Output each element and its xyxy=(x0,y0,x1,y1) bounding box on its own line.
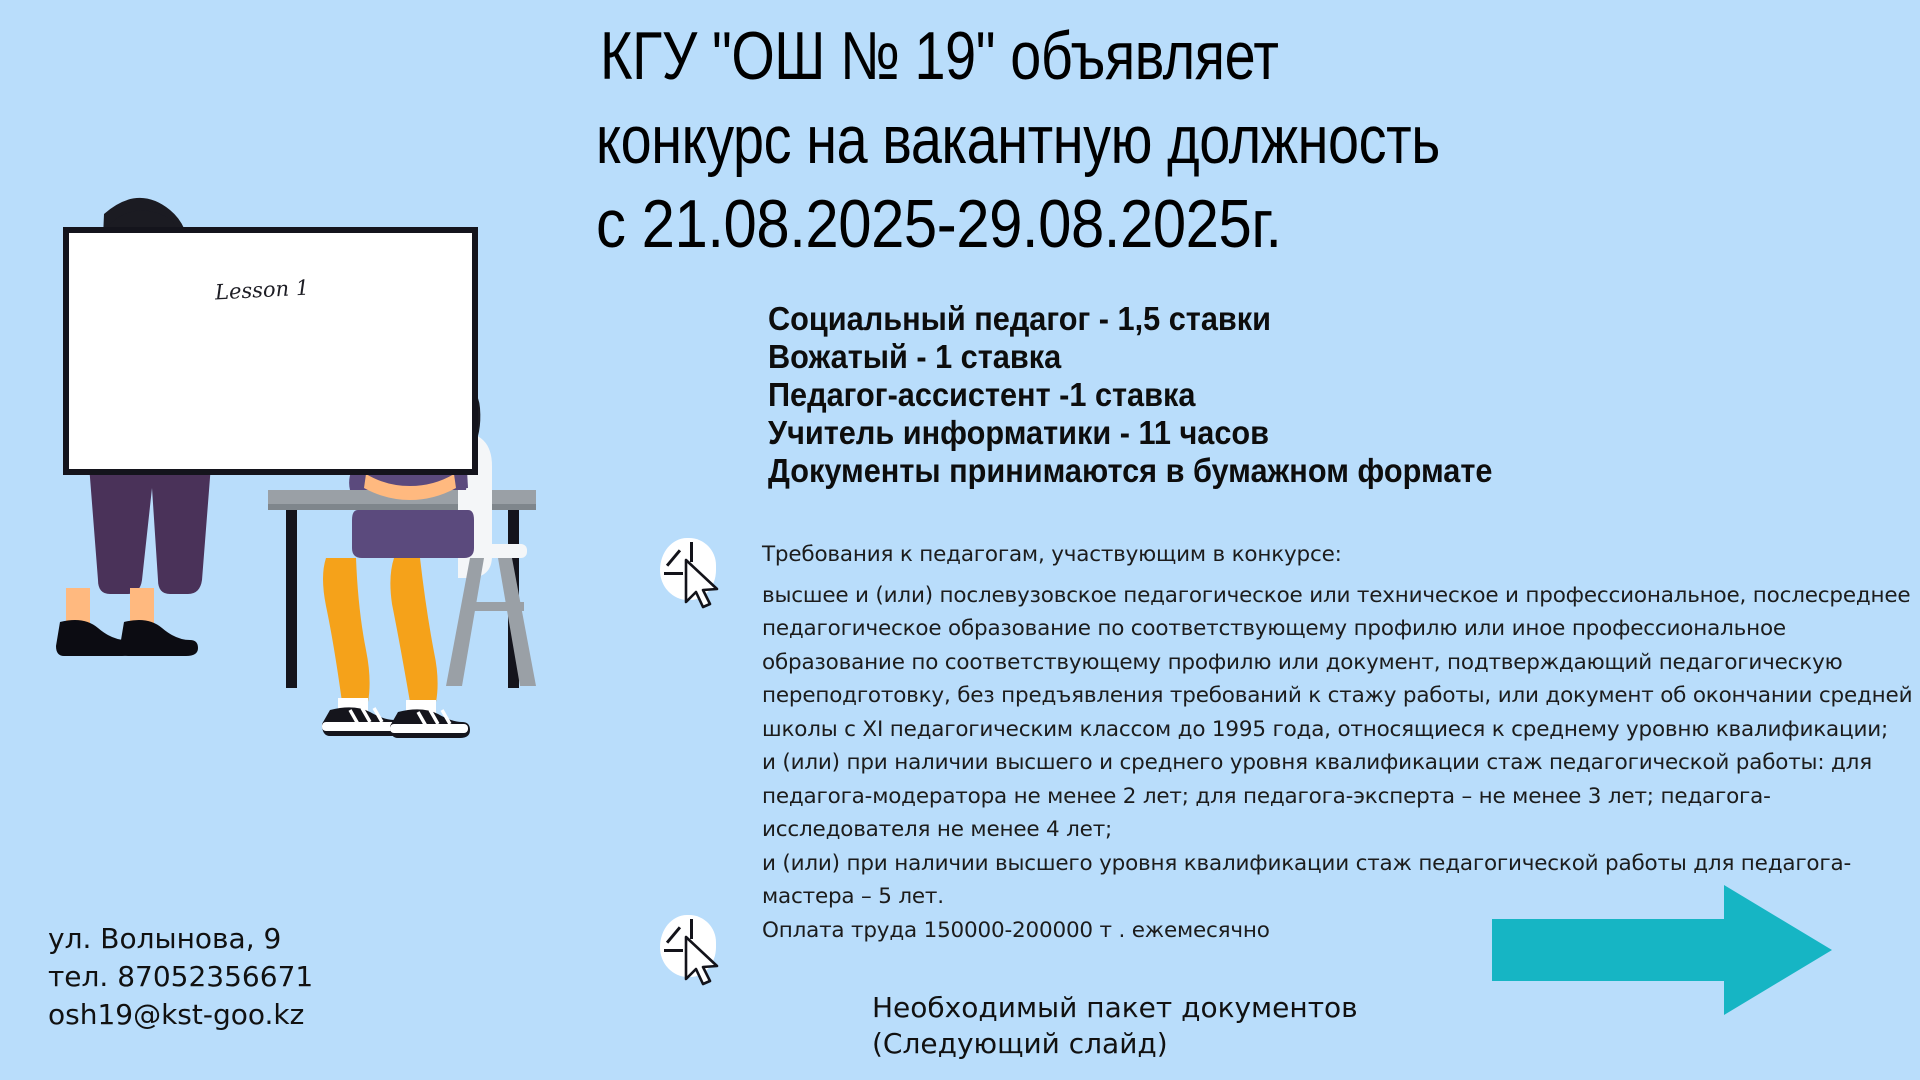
click-cursor-marker-bottom xyxy=(660,915,728,983)
requirements-heading: Требования к педагогам, участвующим в ко… xyxy=(762,538,1914,572)
click-cursor-marker-top xyxy=(660,538,728,606)
vacancy-item: Вожатый - 1 ставка xyxy=(768,338,1838,376)
mouse-pointer-icon xyxy=(682,558,728,610)
cursor-spark-icon xyxy=(664,949,683,952)
next-slide-note-line-1: Необходимый пакет документов xyxy=(872,990,1358,1026)
contact-email[interactable]: osh19@kst-goo.kz xyxy=(48,996,313,1034)
vacancy-item: Документы принимаются в бумажном формате xyxy=(768,452,1838,490)
mouse-pointer-icon xyxy=(682,935,728,987)
next-slide-arrow[interactable] xyxy=(1492,885,1832,1015)
vacancy-list: Социальный педагог - 1,5 ставки Вожатый … xyxy=(768,300,1918,490)
vacancy-item: Педагог-ассистент -1 ставка xyxy=(768,376,1838,414)
contact-address: ул. Волынова, 9 xyxy=(48,920,313,958)
page-title: КГУ "ОШ № 19" объявляет конкурс на вакан… xyxy=(596,14,1916,266)
contact-block: ул. Волынова, 9 тел. 87052356671 osh19@k… xyxy=(48,920,313,1034)
next-slide-note: Необходимый пакет документов (Следующий … xyxy=(872,990,1358,1062)
vacancy-item: Социальный педагог - 1,5 ставки xyxy=(768,300,1838,338)
contact-phone: тел. 87052356671 xyxy=(48,958,313,996)
whiteboard xyxy=(63,227,478,475)
vacancy-item: Учитель информатики - 11 часов xyxy=(768,414,1838,452)
classroom-illustration: Lesson 1 xyxy=(0,170,700,930)
whiteboard-label: Lesson 1 xyxy=(214,276,309,305)
title-line-3: с 21.08.2025-29.08.2025г. xyxy=(596,182,1758,266)
requirements-paragraph: и (или) при наличии высшего и среднего у… xyxy=(762,746,1914,847)
title-line-2: конкурс на вакантную должность xyxy=(596,98,1678,182)
slide-canvas: Lesson 1 КГУ "ОШ № 19" объявляет конкурс… xyxy=(0,0,1920,1080)
requirements-paragraph: высшее и (или) послевузовское педагогиче… xyxy=(762,579,1914,747)
right-arrow-icon[interactable] xyxy=(1492,885,1832,1015)
cursor-spark-icon xyxy=(664,572,683,575)
next-slide-note-line-2: (Следующий слайд) xyxy=(872,1026,1358,1062)
title-line-1: КГУ "ОШ № 19" объявляет xyxy=(600,14,1679,98)
